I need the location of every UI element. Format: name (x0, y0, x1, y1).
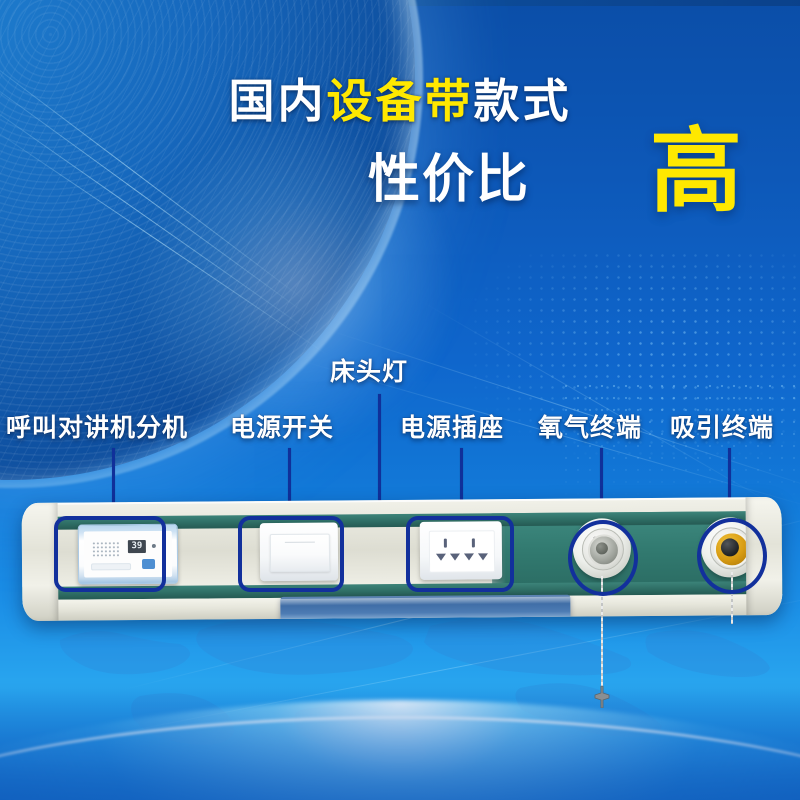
intercom-face: 39 (84, 531, 172, 578)
socket-a-pin-right (450, 554, 460, 561)
oxygen-core (596, 542, 608, 554)
callout-label-oxygen-outlet: 氧气终端 (538, 416, 642, 441)
intercom-label-slot (91, 563, 131, 570)
socket-b-pin-right (478, 553, 488, 560)
speaker-grille-icon (92, 541, 120, 557)
oxygen-pull-cord (601, 576, 603, 628)
socket-a-pin-left (436, 554, 446, 561)
callout-label-bed-lamp: 床头灯 (330, 360, 408, 385)
callout-label-power-socket: 电源插座 (400, 416, 504, 441)
status-led-icon (152, 544, 156, 548)
socket-b-pin-left (464, 553, 474, 560)
suction-core (721, 538, 739, 556)
oxygen-terminal[interactable]: OXYGEN (573, 518, 631, 578)
leader-line-intercom (112, 448, 115, 508)
socket-a-pin-live (444, 539, 447, 548)
promo-banner: 国内设备带款式 性价比 高 呼叫对讲机分机 电源开关 床头灯 电源插座 氧气终端… (0, 0, 800, 800)
panel-body: 39 (22, 497, 783, 621)
callout-label-suction-outlet: 吸引终端 (670, 416, 774, 441)
light-bar-gloss (280, 597, 570, 606)
callout-label-intercom: 呼叫对讲机分机 (6, 416, 188, 441)
nurse-call-intercom[interactable]: 39 (78, 524, 178, 585)
cord-handle-icon[interactable] (592, 686, 612, 708)
intercom-call-button[interactable] (142, 559, 155, 569)
socket-faceplate (429, 530, 495, 573)
power-socket[interactable] (420, 521, 502, 580)
callout-label-power-switch: 电源开关 (230, 416, 334, 441)
switch-rocker[interactable] (270, 534, 330, 572)
bed-light-bar (280, 595, 570, 621)
bed-head-unit: 39 (22, 500, 782, 635)
callout-layer: 呼叫对讲机分机 电源开关 床头灯 电源插座 氧气终端 吸引终端 (0, 0, 800, 800)
intercom-display: 39 (128, 540, 146, 553)
panel-end-cap-left (22, 503, 59, 621)
bed-lamp-switch[interactable] (260, 523, 338, 582)
panel-end-cap-right (746, 497, 783, 615)
suction-pull-cord (731, 572, 733, 624)
socket-b-pin-live (472, 538, 475, 547)
switch-groove (285, 542, 315, 543)
